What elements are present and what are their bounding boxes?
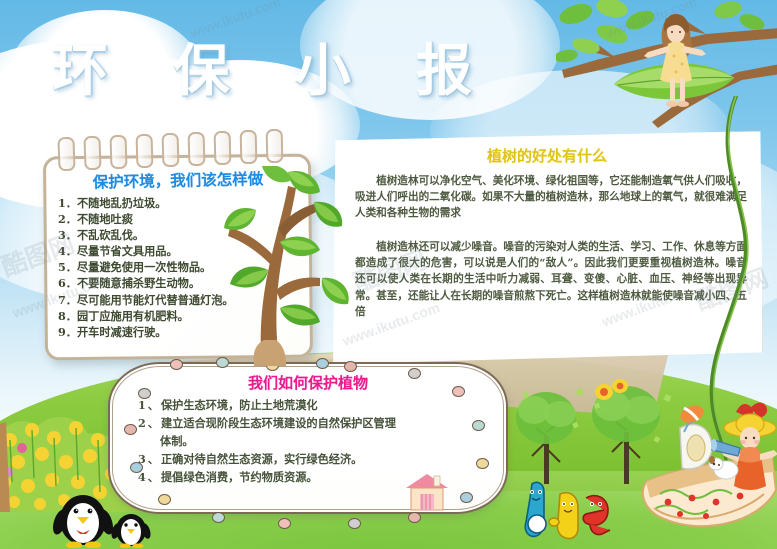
two-penguins — [50, 486, 160, 548]
bottom-list-text: 体制。 — [160, 434, 194, 448]
tree-branch-with-girl-on-leaf — [556, 0, 777, 146]
letter-a-character-icon — [549, 493, 578, 539]
bottom-list-text: 建立适合现阶段生态环境建设的自然保护区管理 — [161, 416, 396, 430]
spiral-ring — [266, 129, 284, 163]
girl-with-telescope-in-boat — [640, 398, 777, 546]
rope-bead — [348, 518, 361, 529]
letter-b-character-icon — [525, 482, 546, 536]
bottom-list-number: 2、 — [138, 416, 161, 430]
letter-e-character-icon — [583, 496, 610, 535]
tree-left-icon — [516, 392, 576, 484]
rope-bead — [212, 512, 225, 523]
spiral-ring — [188, 132, 206, 166]
bottom-list-number — [138, 434, 160, 448]
bottom-list-text: 提倡绿色消费，节约物质资源。 — [161, 470, 318, 484]
spiral-ring — [135, 134, 153, 168]
boat-buoy-icon — [678, 402, 706, 425]
letter-characters — [524, 478, 614, 542]
rope-bead — [170, 359, 183, 370]
tree-leaves-icon — [224, 166, 349, 326]
spiral-ring — [109, 135, 127, 170]
bottom-list-text: 保护生态环境，防止土地荒漠化 — [161, 398, 318, 412]
spiral-ring — [57, 137, 75, 172]
spiral-ring — [83, 136, 101, 171]
right-paragraph-2: 植树造林还可以减少噪音。噪音的污染对人类的生活、学习、工作、休息等方面都造成了很… — [355, 239, 747, 320]
penguin-large-icon — [50, 495, 115, 548]
spiral-ring — [162, 133, 180, 167]
bottom-list-item: 3、正确对待自然生态资源，实行绿色经济。 — [138, 450, 486, 468]
green-sapling-tree — [196, 166, 356, 366]
watermark-7: www.ikutu.com — [188, 0, 282, 41]
rope-bead — [476, 458, 489, 469]
boat-sail-icon — [680, 420, 712, 469]
rope-bead — [408, 512, 421, 523]
rope-bead — [278, 518, 291, 529]
right-paragraph-1: 植树造林可以净化空气、美化环境、绿化祖国等，它还能制造氧气供人们吸收，吸进人们呼… — [355, 173, 747, 222]
penguin-small-icon — [110, 514, 153, 548]
bottom-list-text: 正确对待自然生态资源，实行绿色经济。 — [161, 452, 362, 466]
rope-bead — [124, 424, 137, 435]
rope-bead — [130, 462, 143, 473]
bottom-list-item: 体制。 — [138, 432, 486, 450]
small-pink-house — [404, 472, 450, 512]
telescope-icon — [711, 439, 740, 456]
spiral-ring — [240, 130, 258, 164]
bottom-list-number: 1、 — [138, 398, 161, 412]
bottom-panel-title: 我们如何保护植物 — [108, 372, 508, 393]
rope-bead — [460, 492, 473, 503]
bottom-list-number: 4、 — [138, 470, 161, 484]
rope-bead — [472, 420, 485, 431]
poster-canvas: 环 保 小 报 — [0, 0, 777, 549]
bottom-list-item: 2、建立适合现阶段生态环境建设的自然保护区管理 — [138, 414, 486, 432]
bottom-list-item: 1、保护生态环境，防止土地荒漠化 — [138, 396, 486, 414]
spiral-ring — [214, 131, 232, 165]
